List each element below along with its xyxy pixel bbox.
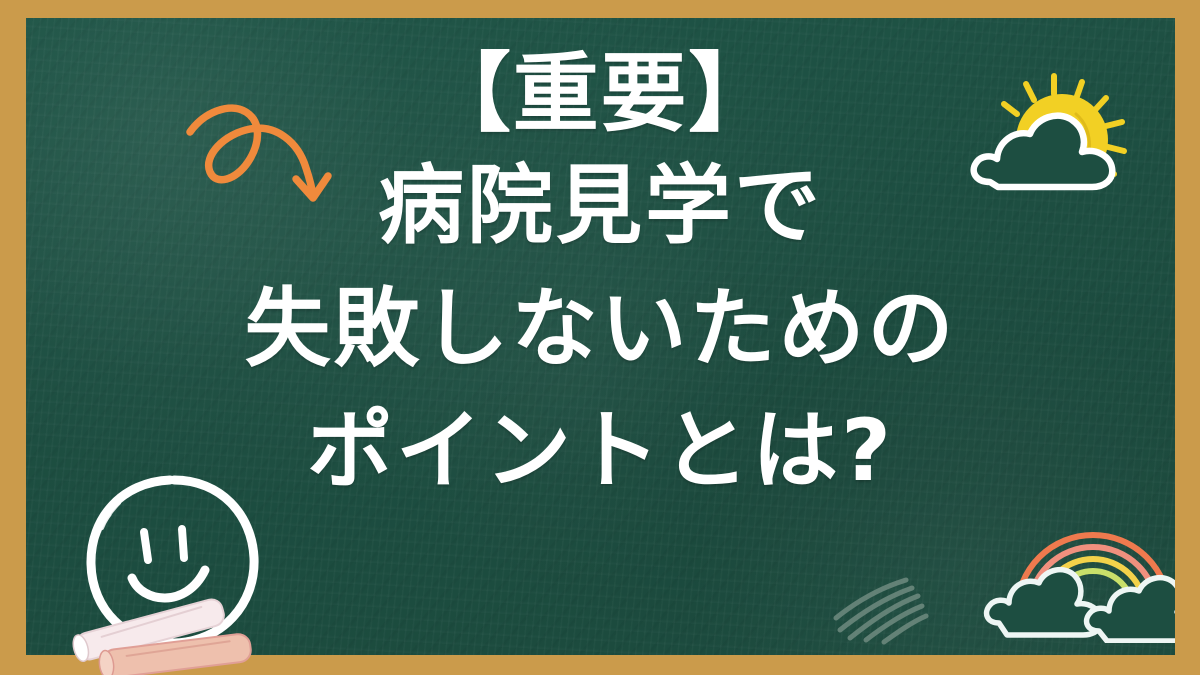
thumbnail-canvas: 【重要】 病院見学で 失敗しないための ポイントとは? [0, 0, 1200, 675]
curly-arrow-icon [178, 84, 353, 219]
chalk-scribble-icon [826, 570, 961, 645]
chalk-sticks-icon [55, 580, 270, 675]
headline-line-2: 失敗しないための [26, 268, 1175, 390]
chalkboard-surface: 【重要】 病院見学で 失敗しないための ポイントとは? [26, 18, 1175, 655]
rainbow-with-clouds-icon [981, 503, 1175, 643]
sun-behind-cloud-icon [954, 56, 1159, 211]
